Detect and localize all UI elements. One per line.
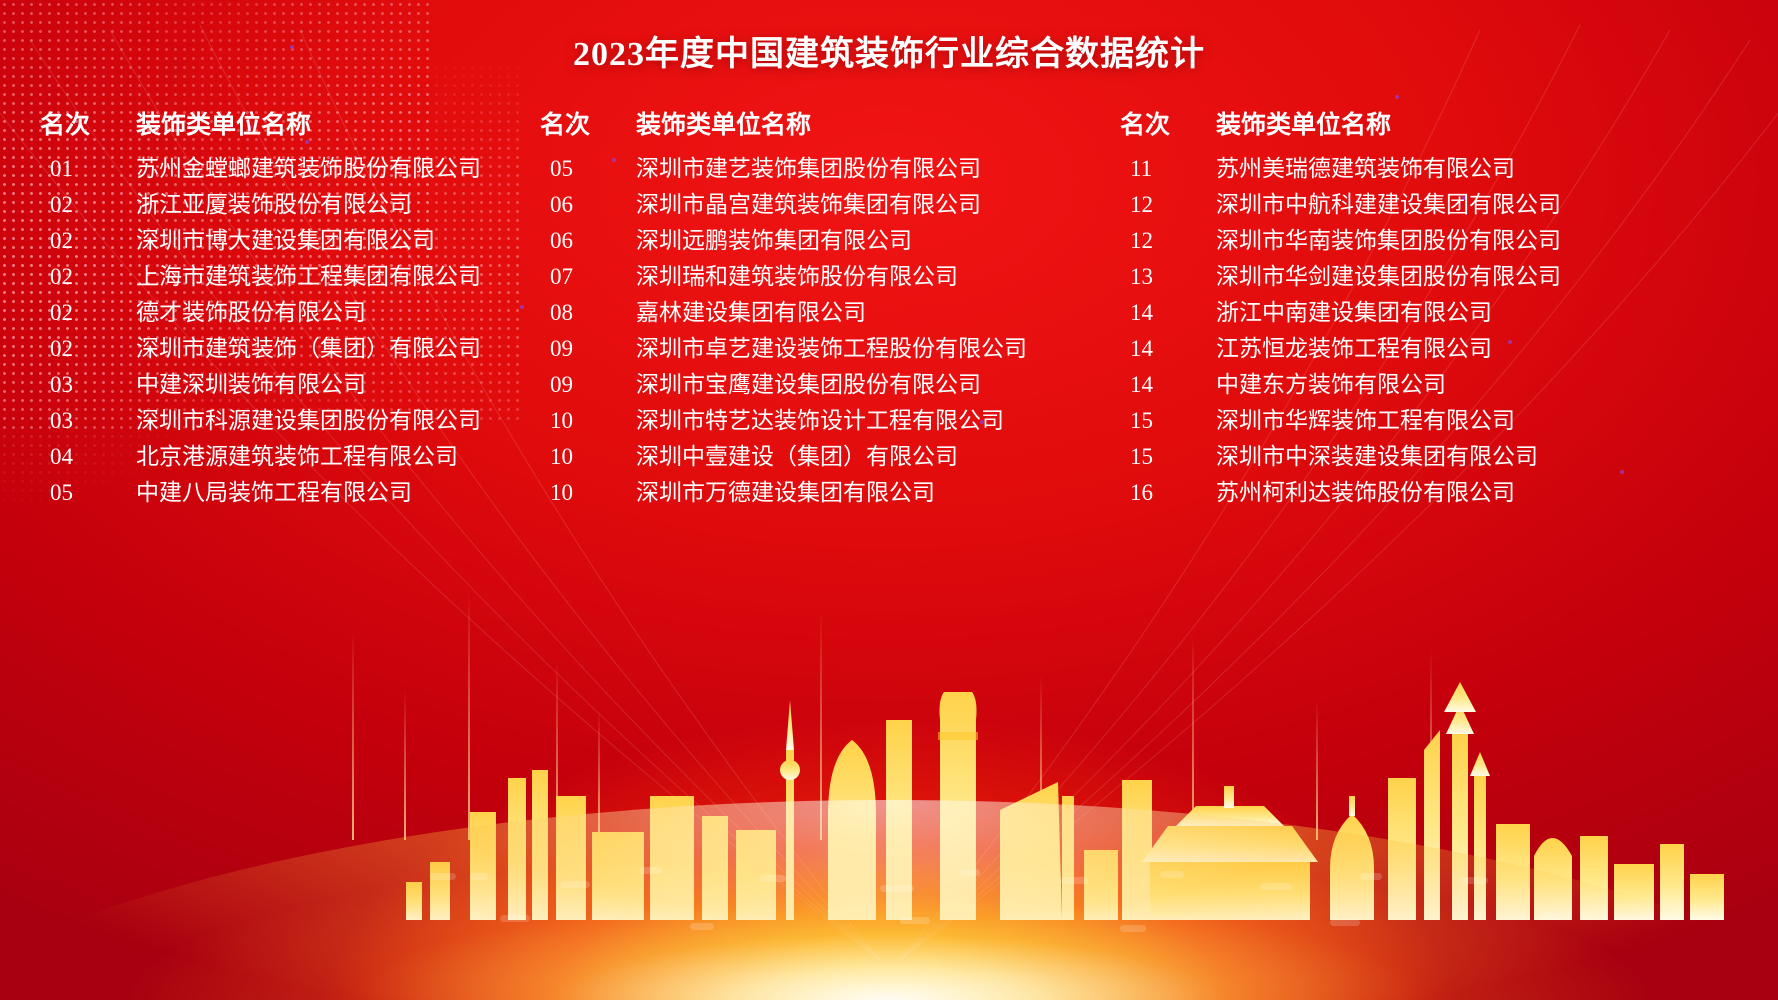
row-company-name: 深圳市华辉装饰工程有限公司 <box>1216 401 1515 435</box>
row-rank: 02 <box>28 264 136 290</box>
row-company-name: 中建东方装饰有限公司 <box>1216 365 1446 399</box>
row-company-name: 德才装饰股份有限公司 <box>136 293 366 327</box>
table-row: 08 嘉林建设集团有限公司 <box>528 293 1108 329</box>
header-rank: 名次 <box>528 105 636 141</box>
table-row: 15 深圳市中深装建设集团有限公司 <box>1108 437 1748 473</box>
row-rank: 08 <box>528 300 636 326</box>
column-header: 名次 装饰类单位名称 <box>1108 105 1748 141</box>
row-company-name: 深圳市科源建设集团股份有限公司 <box>136 401 481 435</box>
row-rank: 14 <box>1108 372 1216 398</box>
row-company-name: 嘉林建设集团有限公司 <box>636 293 866 327</box>
row-rank: 14 <box>1108 300 1216 326</box>
row-company-name: 深圳瑞和建筑装饰股份有限公司 <box>636 257 958 291</box>
row-company-name: 浙江亚厦装饰股份有限公司 <box>136 185 412 219</box>
row-company-name: 北京港源建筑装饰工程有限公司 <box>136 437 458 471</box>
row-company-name: 深圳市华剑建设集团股份有限公司 <box>1216 257 1561 291</box>
row-company-name: 深圳市中深装建设集团有限公司 <box>1216 437 1538 471</box>
table-row: 11 苏州美瑞德建筑装饰有限公司 <box>1108 149 1748 185</box>
table-row: 02 上海市建筑装饰工程集团有限公司 <box>28 257 528 293</box>
row-company-name: 江苏恒龙装饰工程有限公司 <box>1216 329 1492 363</box>
row-rank: 06 <box>528 228 636 254</box>
table-row: 13 深圳市华剑建设集团股份有限公司 <box>1108 257 1748 293</box>
table-row: 01 苏州金螳螂建筑装饰股份有限公司 <box>28 149 528 185</box>
column-header: 名次 装饰类单位名称 <box>528 105 1108 141</box>
row-rank: 06 <box>528 192 636 218</box>
table-row: 02 德才装饰股份有限公司 <box>28 293 528 329</box>
row-rank: 02 <box>28 336 136 362</box>
ranking-column-2: 名次 装饰类单位名称 05 深圳市建艺装饰集团股份有限公司 06 深圳市晶宫建筑… <box>528 105 1108 509</box>
table-row: 02 深圳市博大建设集团有限公司 <box>28 221 528 257</box>
ranking-column-3: 名次 装饰类单位名称 11 苏州美瑞德建筑装饰有限公司 12 深圳市中航科建建设… <box>1108 105 1748 509</box>
row-rank: 02 <box>28 192 136 218</box>
row-company-name: 上海市建筑装饰工程集团有限公司 <box>136 257 481 291</box>
row-rank: 05 <box>28 480 136 506</box>
row-company-name: 中建八局装饰工程有限公司 <box>136 473 412 507</box>
table-row: 16 苏州柯利达装饰股份有限公司 <box>1108 473 1748 509</box>
table-row: 06 深圳远鹏装饰集团有限公司 <box>528 221 1108 257</box>
row-rank: 04 <box>28 444 136 470</box>
row-rank: 09 <box>528 372 636 398</box>
table-row: 14 江苏恒龙装饰工程有限公司 <box>1108 329 1748 365</box>
row-rank: 12 <box>1108 228 1216 254</box>
table-row: 10 深圳中壹建设（集团）有限公司 <box>528 437 1108 473</box>
table-row: 05 中建八局装饰工程有限公司 <box>28 473 528 509</box>
table-row: 02 深圳市建筑装饰（集团）有限公司 <box>28 329 528 365</box>
row-rank: 10 <box>528 408 636 434</box>
table-row: 04 北京港源建筑装饰工程有限公司 <box>28 437 528 473</box>
row-company-name: 中建深圳装饰有限公司 <box>136 365 366 399</box>
row-company-name: 深圳市特艺达装饰设计工程有限公司 <box>636 401 1004 435</box>
header-name: 装饰类单位名称 <box>1216 105 1391 141</box>
table-row: 14 中建东方装饰有限公司 <box>1108 365 1748 401</box>
row-rank: 03 <box>28 408 136 434</box>
table-row: 06 深圳市晶宫建筑装饰集团有限公司 <box>528 185 1108 221</box>
column-header: 名次 装饰类单位名称 <box>28 105 528 141</box>
row-rank: 14 <box>1108 336 1216 362</box>
table-row: 10 深圳市万德建设集团有限公司 <box>528 473 1108 509</box>
table-row: 07 深圳瑞和建筑装饰股份有限公司 <box>528 257 1108 293</box>
row-company-name: 深圳市建筑装饰（集团）有限公司 <box>136 329 481 363</box>
row-company-name: 浙江中南建设集团有限公司 <box>1216 293 1492 327</box>
row-rank: 05 <box>528 156 636 182</box>
row-rank: 09 <box>528 336 636 362</box>
table-row: 12 深圳市华南装饰集团股份有限公司 <box>1108 221 1748 257</box>
table-row: 02 浙江亚厦装饰股份有限公司 <box>28 185 528 221</box>
table-row: 05 深圳市建艺装饰集团股份有限公司 <box>528 149 1108 185</box>
row-company-name: 深圳市卓艺建设装饰工程股份有限公司 <box>636 329 1027 363</box>
row-company-name: 苏州美瑞德建筑装饰有限公司 <box>1216 149 1515 183</box>
row-rank: 03 <box>28 372 136 398</box>
row-company-name: 深圳市万德建设集团有限公司 <box>636 473 935 507</box>
row-rank: 13 <box>1108 264 1216 290</box>
ranking-columns: 名次 装饰类单位名称 01 苏州金螳螂建筑装饰股份有限公司 02 浙江亚厦装饰股… <box>28 105 1750 509</box>
row-rank: 15 <box>1108 444 1216 470</box>
row-rank: 10 <box>528 444 636 470</box>
table-row: 10 深圳市特艺达装饰设计工程有限公司 <box>528 401 1108 437</box>
row-company-name: 深圳市博大建设集团有限公司 <box>136 221 435 255</box>
row-company-name: 深圳远鹏装饰集团有限公司 <box>636 221 912 255</box>
table-row: 09 深圳市卓艺建设装饰工程股份有限公司 <box>528 329 1108 365</box>
header-rank: 名次 <box>1108 105 1216 141</box>
row-rank: 02 <box>28 300 136 326</box>
row-company-name: 苏州金螳螂建筑装饰股份有限公司 <box>136 149 481 183</box>
table-row: 09 深圳市宝鹰建设集团股份有限公司 <box>528 365 1108 401</box>
table-row: 14 浙江中南建设集团有限公司 <box>1108 293 1748 329</box>
row-company-name: 深圳市中航科建建设集团有限公司 <box>1216 185 1561 219</box>
horizon-light-band <box>0 670 1778 1000</box>
page-title: 2023年度中国建筑装饰行业综合数据统计 <box>0 26 1778 75</box>
header-name: 装饰类单位名称 <box>636 105 811 141</box>
row-rank: 12 <box>1108 192 1216 218</box>
row-company-name: 苏州柯利达装饰股份有限公司 <box>1216 473 1515 507</box>
row-rank: 15 <box>1108 408 1216 434</box>
row-rank: 11 <box>1108 156 1216 182</box>
table-row: 15 深圳市华辉装饰工程有限公司 <box>1108 401 1748 437</box>
row-company-name: 深圳市建艺装饰集团股份有限公司 <box>636 149 981 183</box>
table-row: 03 深圳市科源建设集团股份有限公司 <box>28 401 528 437</box>
row-rank: 02 <box>28 228 136 254</box>
row-rank: 07 <box>528 264 636 290</box>
row-company-name: 深圳市宝鹰建设集团股份有限公司 <box>636 365 981 399</box>
row-company-name: 深圳市华南装饰集团股份有限公司 <box>1216 221 1561 255</box>
row-rank: 16 <box>1108 480 1216 506</box>
row-rank: 10 <box>528 480 636 506</box>
ranking-column-1: 名次 装饰类单位名称 01 苏州金螳螂建筑装饰股份有限公司 02 浙江亚厦装饰股… <box>28 105 528 509</box>
poster-canvas: 2023年度中国建筑装饰行业综合数据统计 名次 装饰类单位名称 01 苏州金螳螂… <box>0 0 1778 1000</box>
row-company-name: 深圳市晶宫建筑装饰集团有限公司 <box>636 185 981 219</box>
header-name: 装饰类单位名称 <box>136 105 311 141</box>
row-rank: 01 <box>28 156 136 182</box>
table-row: 12 深圳市中航科建建设集团有限公司 <box>1108 185 1748 221</box>
table-row: 03 中建深圳装饰有限公司 <box>28 365 528 401</box>
header-rank: 名次 <box>28 105 136 141</box>
row-company-name: 深圳中壹建设（集团）有限公司 <box>636 437 958 471</box>
